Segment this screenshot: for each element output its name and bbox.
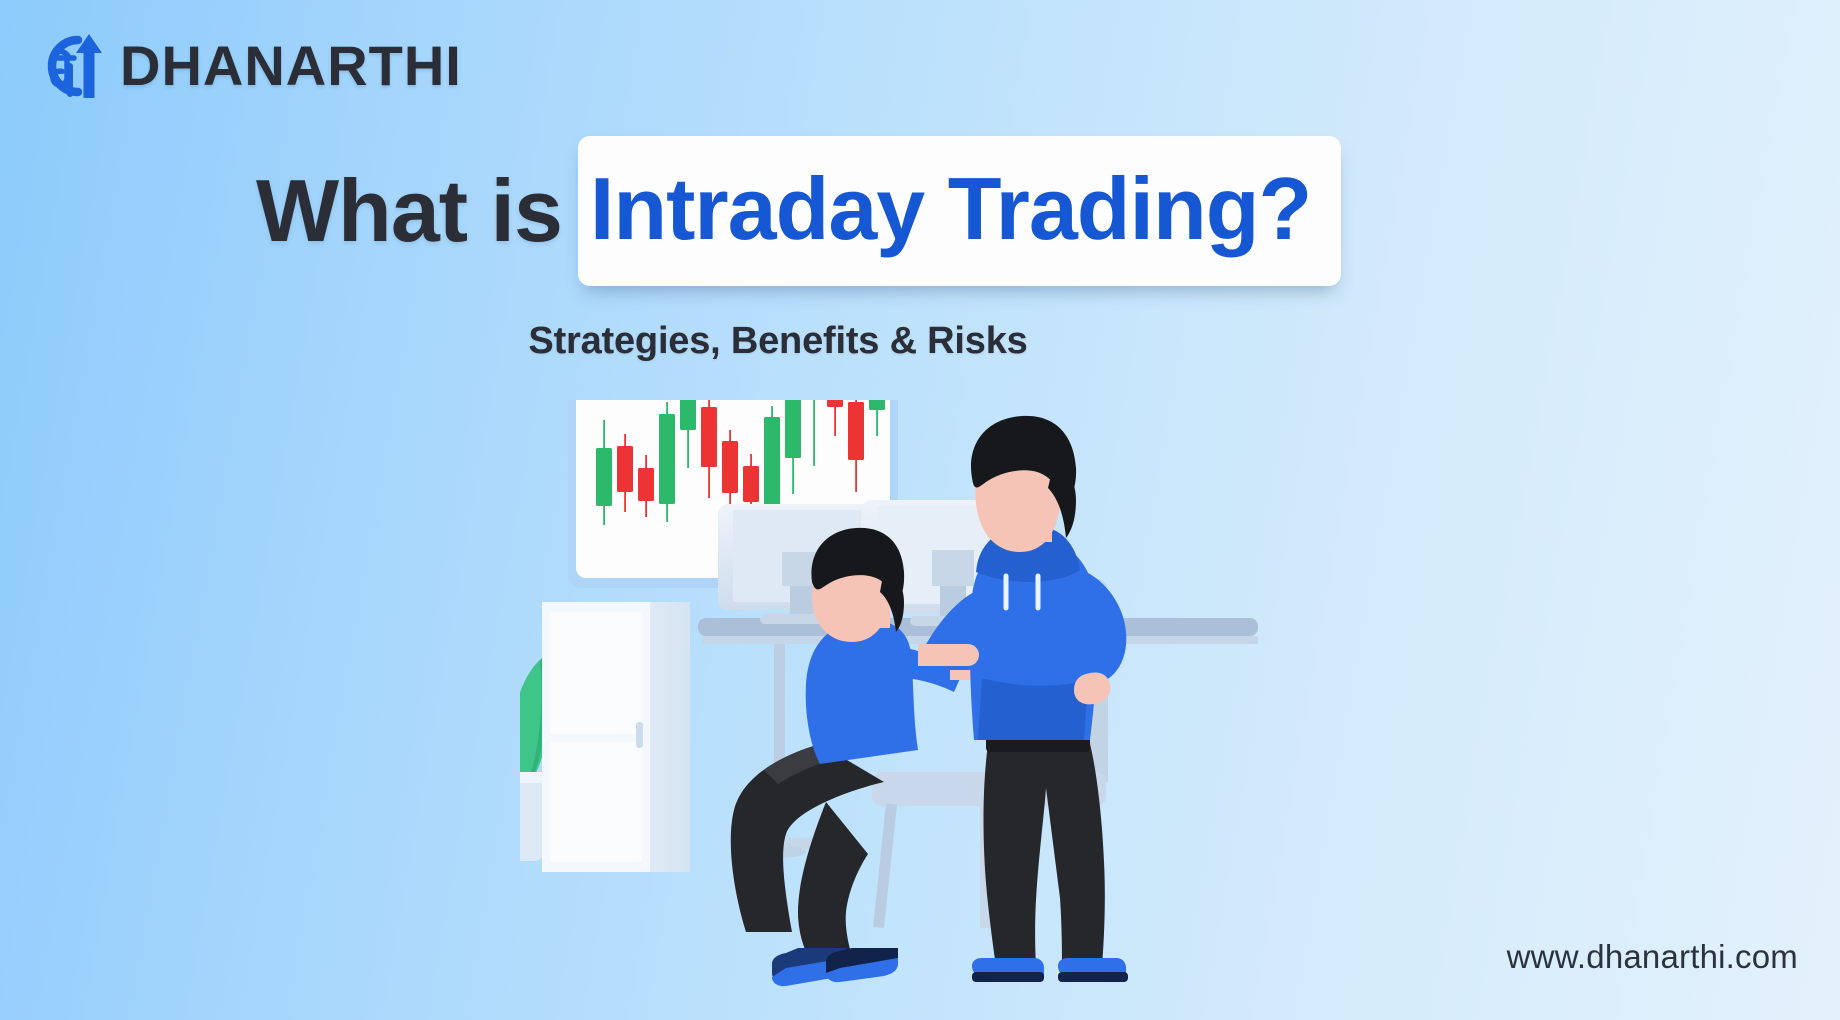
brand-name: DHANARTHI bbox=[120, 38, 462, 94]
title-plain-part: What is bbox=[256, 167, 578, 255]
title-highlight-part: Intraday Trading? bbox=[590, 165, 1311, 253]
website-url[interactable]: www.dhanarthi.com bbox=[1507, 938, 1798, 976]
illustration-svg bbox=[520, 400, 1460, 1020]
filing-cabinet bbox=[542, 602, 690, 872]
poster-canvas: DHANARTHI What is Intraday Trading? Stra… bbox=[0, 0, 1840, 1020]
page-subtitle-text: Strategies, Benefits & Risks bbox=[528, 320, 1027, 363]
page-subtitle: Strategies, Benefits & Risks bbox=[0, 320, 1840, 363]
dhanarthi-circular-arrow-logo bbox=[26, 26, 108, 106]
page-title: What is Intraday Trading? bbox=[256, 136, 1341, 286]
title-highlight-card: Intraday Trading? bbox=[578, 136, 1341, 286]
hero-illustration bbox=[520, 400, 1460, 1020]
brand-logo[interactable]: DHANARTHI bbox=[26, 26, 462, 106]
